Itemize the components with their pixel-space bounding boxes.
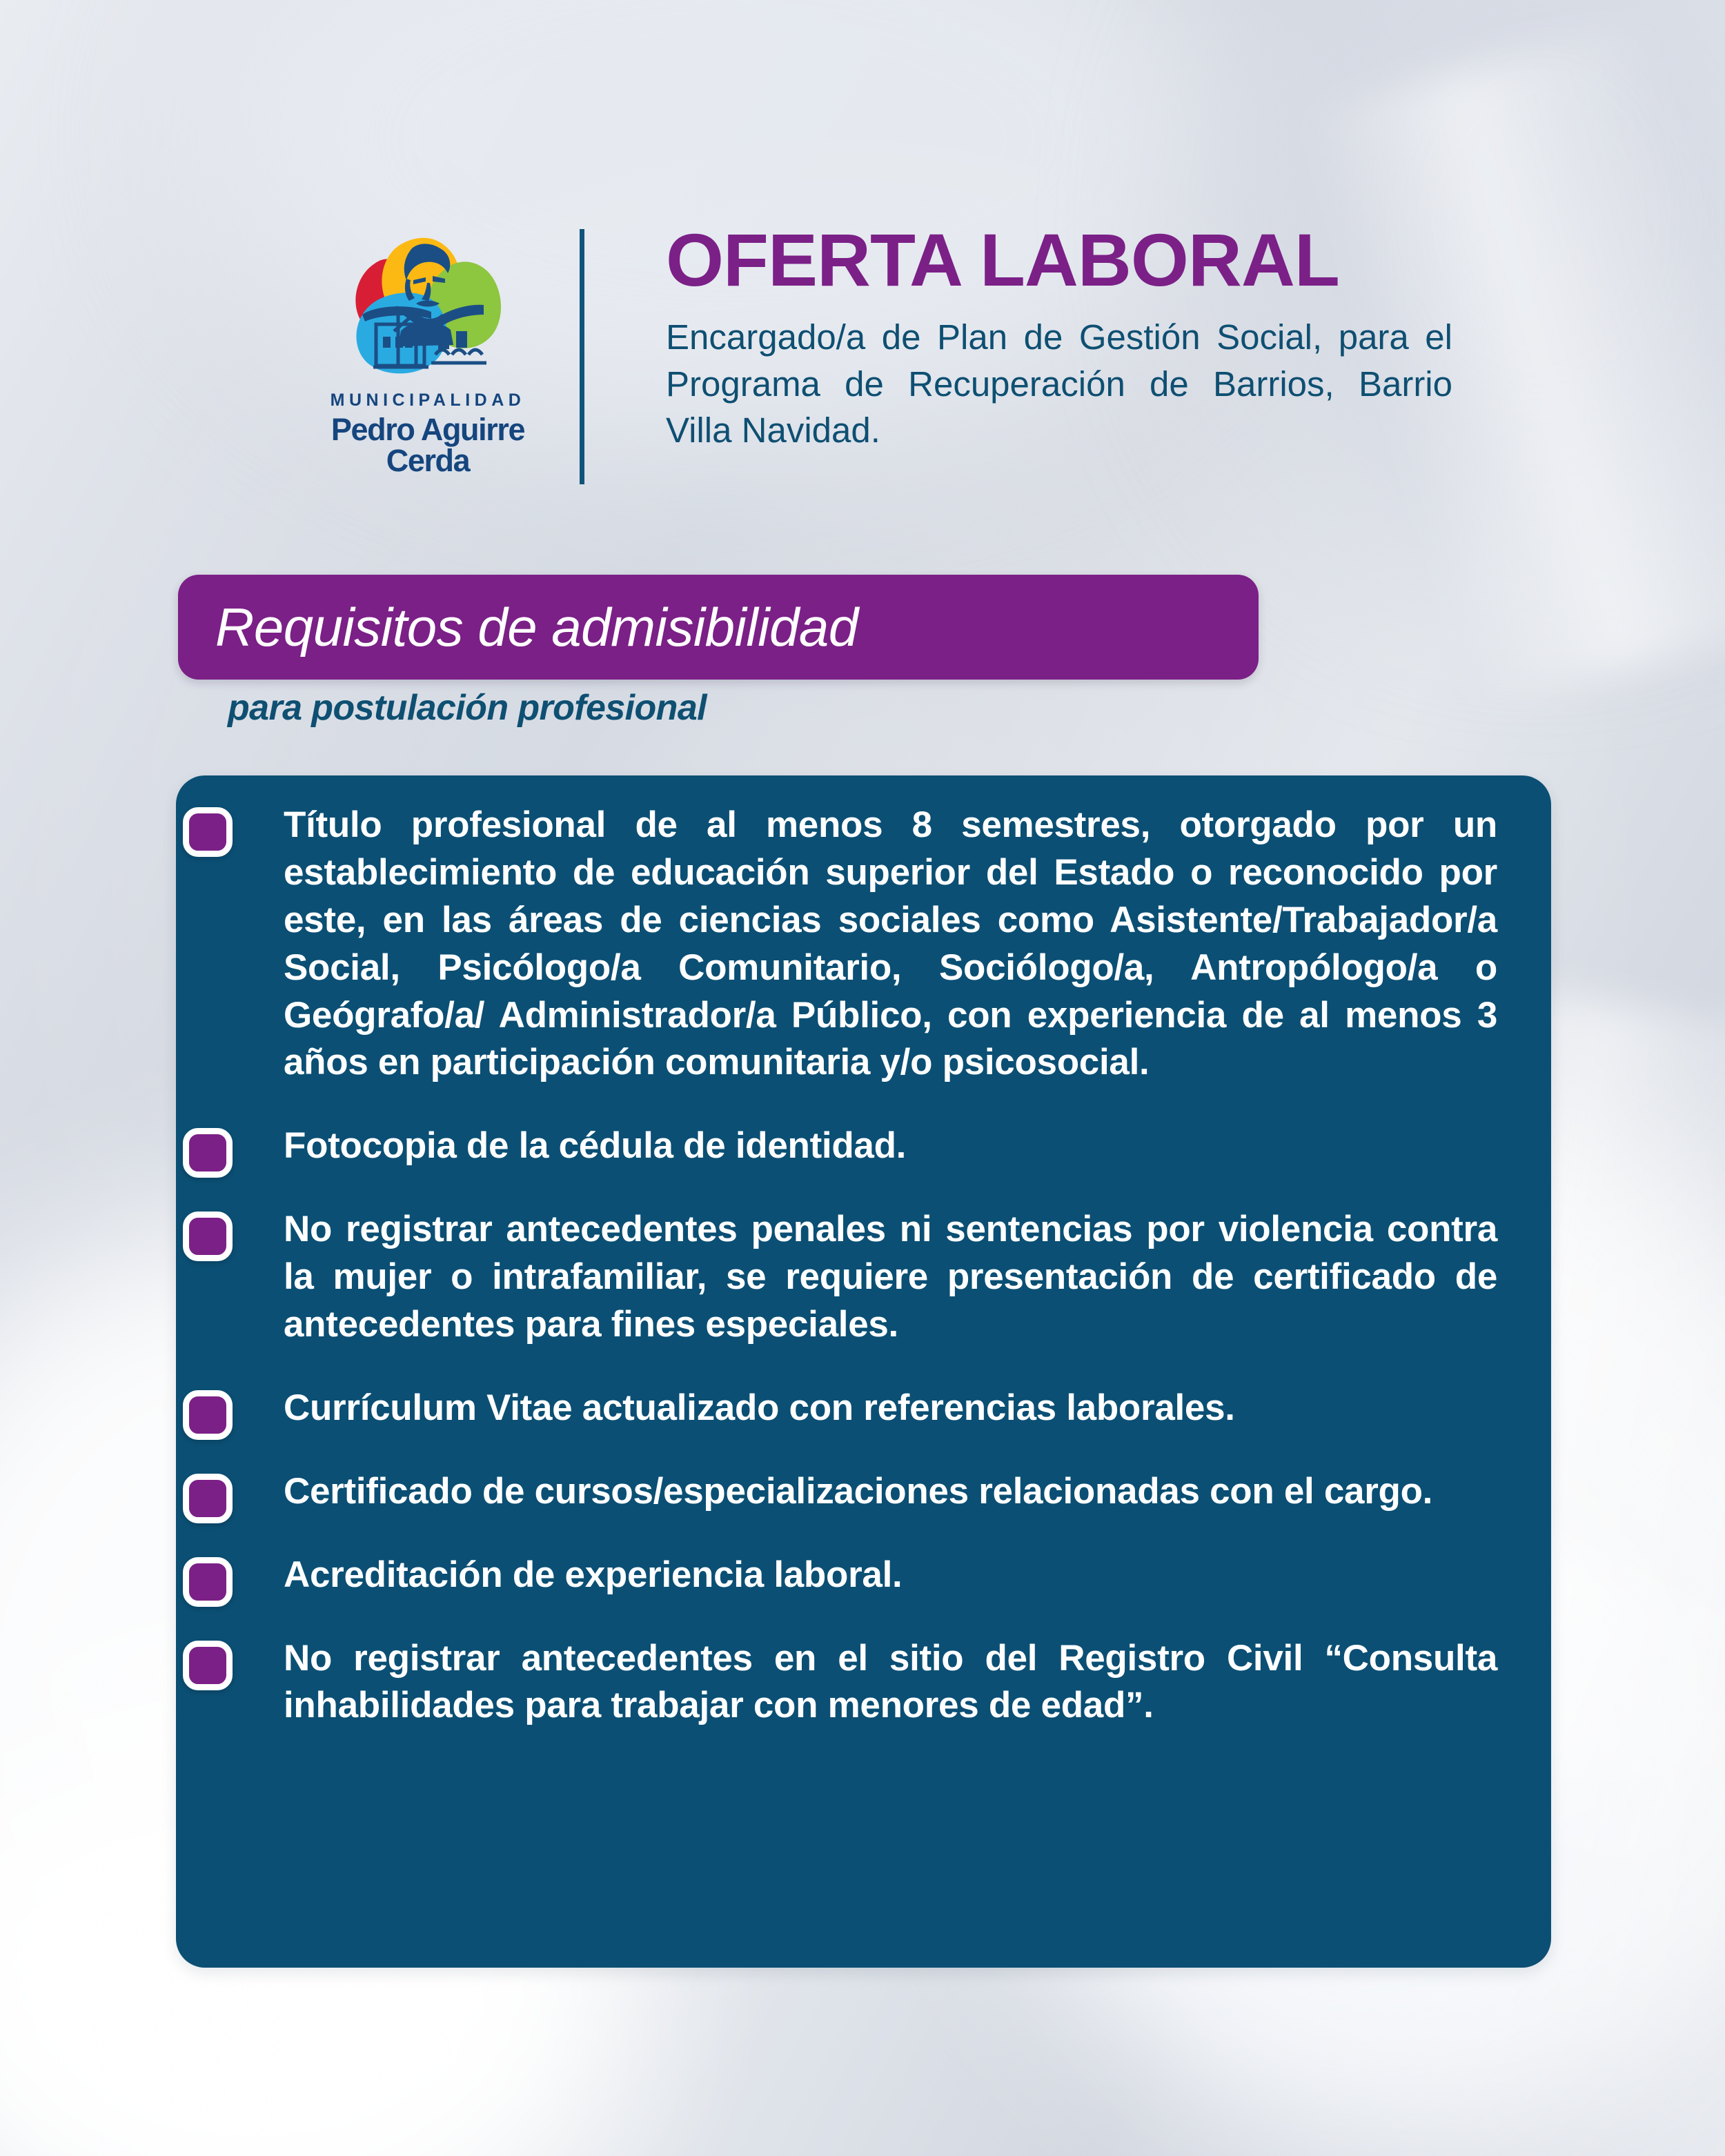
header-divider xyxy=(580,229,584,484)
job-offer-poster: MUNICIPALIDAD Pedro Aguirre Cerda OFERTA… xyxy=(0,0,1725,2156)
requirement-text: Acreditación de experiencia laboral. xyxy=(284,1552,1497,1599)
poster-header: MUNICIPALIDAD Pedro Aguirre Cerda OFERTA… xyxy=(0,207,1725,497)
requirement-text: No registrar antecedentes en el sitio de… xyxy=(284,1635,1497,1730)
requirement-bullet-icon xyxy=(183,1211,233,1261)
requirement-item: Acreditación de experiencia laboral. xyxy=(231,1552,1497,1599)
requirement-item: Currículum Vitae actualizado con referen… xyxy=(231,1385,1497,1432)
requirement-bullet-icon xyxy=(183,1128,233,1178)
requirement-bullet-icon xyxy=(183,1557,233,1607)
section-banner: Requisitos de admisibilidad xyxy=(178,575,1259,680)
section-banner-title: Requisitos de admisibilidad xyxy=(178,600,858,654)
header-text-block: OFERTA LABORAL Encargado/a de Plan de Ge… xyxy=(666,221,1452,453)
requirement-bullet-icon xyxy=(183,1641,233,1690)
requirement-text: Título profesional de al menos 8 semestr… xyxy=(284,802,1497,1087)
requirement-item: No registrar antecedentes en el sitio de… xyxy=(231,1635,1497,1730)
requirement-text: Certificado de cursos/especializaciones … xyxy=(284,1468,1497,1516)
requirement-text: Currículum Vitae actualizado con referen… xyxy=(284,1385,1497,1432)
logo-municipality-label: MUNICIPALIDAD xyxy=(310,392,545,409)
requirements-list: Título profesional de al menos 8 semestr… xyxy=(231,802,1497,1730)
section-banner-subtitle: para postulación profesional xyxy=(228,690,707,726)
municipality-crest-icon xyxy=(335,228,521,386)
requirement-bullet-icon xyxy=(183,1390,233,1440)
page-subtitle: Encargado/a de Plan de Gestión Social, p… xyxy=(666,314,1452,453)
requirement-item: Certificado de cursos/especializaciones … xyxy=(231,1468,1497,1516)
municipality-logo: MUNICIPALIDAD Pedro Aguirre Cerda xyxy=(310,228,545,476)
page-title: OFERTA LABORAL xyxy=(666,221,1452,299)
requirement-text: Fotocopia de la cédula de identidad. xyxy=(284,1122,1497,1170)
requirement-item: Título profesional de al menos 8 semestr… xyxy=(231,802,1497,1087)
requirement-text: No registrar antecedentes penales ni sen… xyxy=(284,1206,1497,1349)
requirement-item: No registrar antecedentes penales ni sen… xyxy=(231,1206,1497,1349)
requirement-bullet-icon xyxy=(183,1474,233,1523)
requirement-bullet-icon xyxy=(183,807,233,857)
requirement-item: Fotocopia de la cédula de identidad. xyxy=(231,1122,1497,1170)
logo-municipality-name: Pedro Aguirre Cerda xyxy=(310,414,545,476)
requirements-card: Título profesional de al menos 8 semestr… xyxy=(176,775,1551,1968)
